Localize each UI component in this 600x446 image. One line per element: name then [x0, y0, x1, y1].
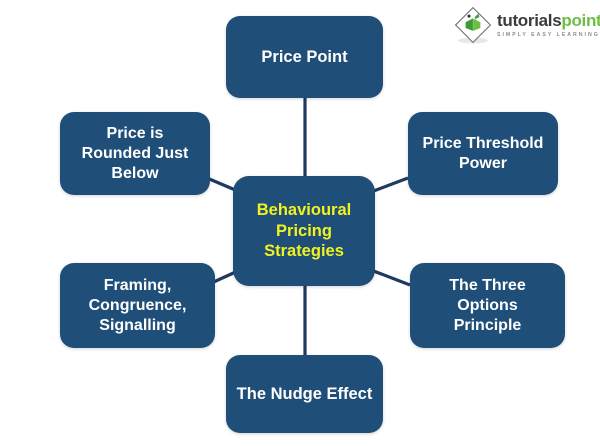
- connector-center-to-three-options: [371, 270, 410, 285]
- node-nudge-effect[interactable]: The Nudge Effect: [226, 355, 383, 433]
- logo-tagline: SIMPLY EASY LEARNING: [497, 32, 600, 38]
- tutorialspoint-logo: tutorialspoint SIMPLY EASY LEARNING: [452, 4, 594, 46]
- logo-wordmark: tutorialspoint: [497, 12, 600, 29]
- node-price-threshold-power[interactable]: Price Threshold Power: [408, 112, 558, 195]
- node-price-point[interactable]: Price Point: [226, 16, 383, 98]
- node-three-options-principle[interactable]: The Three Options Principle: [410, 263, 565, 348]
- center-node-behavioural-pricing-strategies[interactable]: Behavioural Pricing Strategies: [233, 176, 375, 286]
- node-price-threshold-power-label: Price Threshold Power: [423, 134, 544, 174]
- logo-wordmark-tutorials: tutorials: [497, 11, 561, 30]
- logo-text-block: tutorialspoint SIMPLY EASY LEARNING: [497, 12, 600, 38]
- connector-center-to-price-threshold: [371, 178, 408, 192]
- node-price-rounded-just-below-label: Price is Rounded Just Below: [82, 124, 189, 184]
- node-price-rounded-just-below[interactable]: Price is Rounded Just Below: [60, 112, 210, 195]
- center-node-label: Behavioural Pricing Strategies: [257, 200, 351, 262]
- node-price-point-label: Price Point: [261, 47, 347, 68]
- node-nudge-effect-label: The Nudge Effect: [237, 384, 373, 405]
- node-framing-congruence-signalling-label: Framing, Congruence, Signalling: [89, 276, 187, 336]
- node-three-options-principle-label: The Three Options Principle: [449, 276, 525, 336]
- logo-wordmark-point: point: [561, 11, 600, 30]
- diagram-canvas: Behavioural Pricing Strategies Price Poi…: [0, 0, 600, 446]
- diamond-book-icon: [452, 4, 494, 46]
- node-framing-congruence-signalling[interactable]: Framing, Congruence, Signalling: [60, 263, 215, 348]
